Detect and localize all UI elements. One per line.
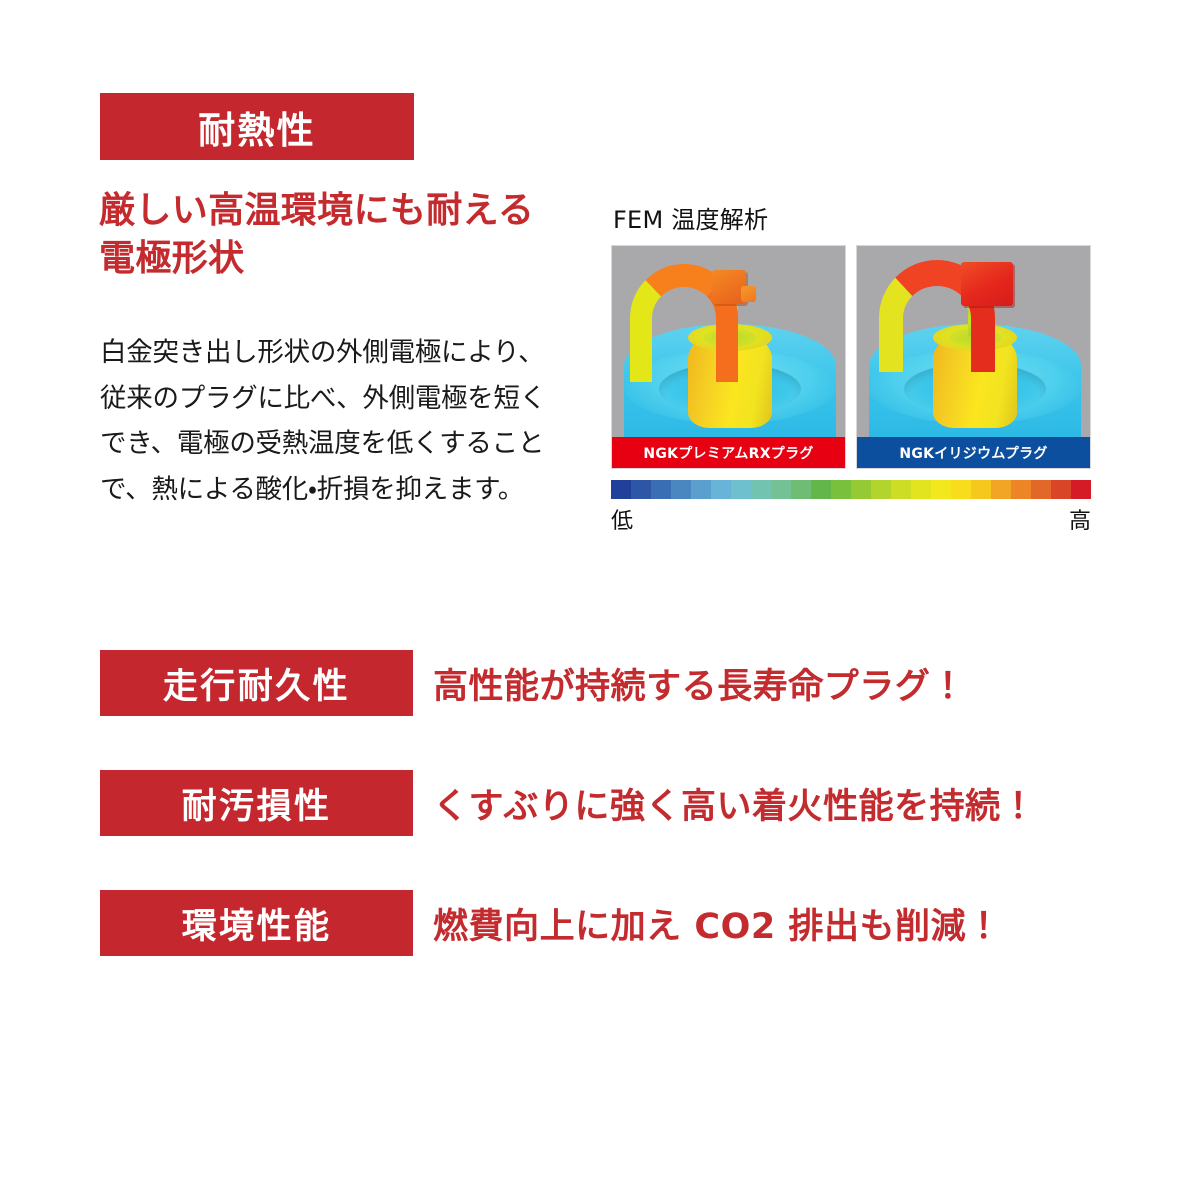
colorbar-segment-19 — [991, 480, 1011, 499]
feature-badge-driving-durability: 走行耐久性 — [100, 650, 413, 716]
colorbar-segment-6 — [731, 480, 751, 499]
colorbar-segment-22 — [1051, 480, 1071, 499]
colorbar-segment-23 — [1071, 480, 1091, 499]
fem-panel-label-premium-rx-text: NGKプレミアムRXプラグ — [643, 443, 813, 463]
colorbar-segment-1 — [631, 480, 651, 499]
colorbar-segment-18 — [971, 480, 991, 499]
colorbar-segment-4 — [691, 480, 711, 499]
feature-text-label: 高性能が持続する長寿命プラグ！ — [433, 658, 966, 709]
ground-electrode-stub-icon — [741, 286, 756, 302]
temperature-scale: 低 高 — [611, 480, 1091, 535]
scale-high-label: 高 — [1069, 503, 1091, 535]
feature-row: 環境性能 燃費向上に加え CO2 排出も削減！ — [100, 890, 1100, 956]
heat-resistance-headline: 厳しい高温環境にも耐える 電極形状 — [99, 187, 619, 282]
colorbar-segment-3 — [671, 480, 691, 499]
feature-row: 耐汚損性 くすぶりに強く高い着火性能を持続！ — [100, 770, 1100, 836]
colorbar-segment-21 — [1031, 480, 1051, 499]
fem-panel-group: NGKプレミアムRXプラグ NGKイリジウムプラグ — [611, 245, 1091, 469]
feature-text-driving-durability: 高性能が持続する長寿命プラグ！ — [433, 650, 966, 716]
colorbar-segment-13 — [871, 480, 891, 499]
colorbar-segment-0 — [611, 480, 631, 499]
body-line-2: 従来のプラグに比べ、外側電極を短く — [100, 376, 590, 422]
feature-badge-environmental-performance: 環境性能 — [100, 890, 413, 956]
feature-text-fouling-resistance: くすぶりに強く高い着火性能を持続！ — [433, 770, 1036, 836]
fem-panel-premium-rx: NGKプレミアムRXプラグ — [611, 245, 846, 469]
colorbar-segment-8 — [771, 480, 791, 499]
headline-line-1: 厳しい高温環境にも耐える — [99, 187, 619, 235]
fem-panel-iridium: NGKイリジウムプラグ — [856, 245, 1091, 469]
temperature-scale-labels: 低 高 — [611, 503, 1091, 535]
feature-badge-label: 耐汚損性 — [182, 778, 332, 829]
fem-analysis-figure: FEM 温度解析 NGKプレミアムRXプラグ — [611, 200, 1091, 469]
feature-text-environmental-performance: 燃費向上に加え CO2 排出も削減！ — [433, 890, 1002, 956]
feature-text-label: くすぶりに強く高い着火性能を持続！ — [433, 778, 1036, 829]
body-line-4: で、熱による酸化・折損を抑えます。 — [100, 467, 590, 513]
fem-panel-label-iridium-text: NGKイリジウムプラグ — [899, 443, 1047, 463]
colorbar-segment-11 — [831, 480, 851, 499]
fem-render-premium-rx — [612, 246, 845, 468]
colorbar-segment-12 — [851, 480, 871, 499]
feature-badge-label: 環境性能 — [182, 898, 332, 949]
scale-low-label: 低 — [611, 503, 633, 535]
fem-render-iridium — [857, 246, 1090, 468]
colorbar-segment-16 — [931, 480, 951, 499]
colorbar-segment-20 — [1011, 480, 1031, 499]
colorbar-segment-9 — [791, 480, 811, 499]
colorbar-segment-15 — [911, 480, 931, 499]
colorbar-segment-7 — [751, 480, 771, 499]
body-line-1: 白金突き出し形状の外側電極により、 — [100, 330, 590, 376]
colorbar-segment-14 — [891, 480, 911, 499]
heat-resistance-body-copy: 白金突き出し形状の外側電極により、 従来のプラグに比べ、外側電極を短く でき、電… — [100, 330, 590, 512]
colorbar-segment-5 — [711, 480, 731, 499]
feature-badge-label: 走行耐久性 — [163, 658, 350, 709]
headline-line-2: 電極形状 — [99, 235, 619, 283]
colorbar-segment-2 — [651, 480, 671, 499]
colorbar-segment-10 — [811, 480, 831, 499]
section-badge-heat-resistance: 耐熱性 — [100, 93, 414, 160]
feature-badge-fouling-resistance: 耐汚損性 — [100, 770, 413, 836]
ground-electrode-tip-icon — [961, 262, 1013, 306]
section-badge-heat-resistance-label: 耐熱性 — [198, 100, 316, 154]
fem-figure-caption: FEM 温度解析 — [613, 200, 1091, 235]
fem-panel-label-premium-rx: NGKプレミアムRXプラグ — [612, 437, 845, 468]
feature-text-label: 燃費向上に加え CO2 排出も削減！ — [433, 898, 1002, 949]
colorbar-segment-17 — [951, 480, 971, 499]
fem-panel-label-iridium: NGKイリジウムプラグ — [857, 437, 1090, 468]
body-line-3: でき、電極の受熱温度を低くすること — [100, 421, 590, 467]
temperature-colorbar — [611, 480, 1091, 499]
feature-row: 走行耐久性 高性能が持続する長寿命プラグ！ — [100, 650, 1100, 716]
